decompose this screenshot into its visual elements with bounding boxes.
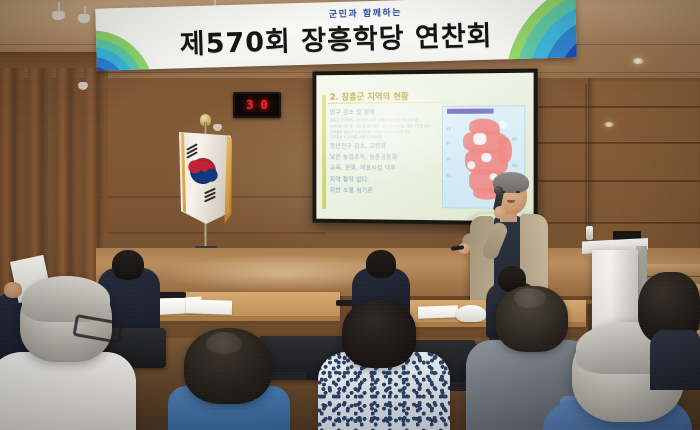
podium-microphone: [586, 226, 593, 240]
wall-trim: [96, 232, 326, 234]
slide-title-rule: [328, 102, 476, 104]
audience-body: [650, 330, 700, 390]
slide-bullet: 인구 감소 및 정체: [330, 107, 440, 119]
audience-bald-spot: [206, 332, 242, 354]
slide-bullet: 지역 활력 없다.: [330, 174, 440, 186]
audience-body: [0, 352, 136, 430]
audience-hand: [4, 282, 22, 298]
slide-accent-bar: [322, 95, 326, 209]
map-caption-bar: [447, 109, 494, 114]
curtain-rod: [0, 52, 108, 68]
slide-bullet: 청년인구 감소, 고령화: [330, 141, 440, 152]
white-cap: [456, 305, 486, 322]
wall-trim: [530, 222, 700, 224]
map-label: 충북: [446, 141, 451, 145]
map-label: 전북: [446, 157, 451, 161]
slide-bullet: 교육, 문화, 의료시설 낙후: [330, 163, 440, 175]
lecture-hall-photo: 군민과 함께하는 제570회 장흥학당 연찬회 3 0 2. 장흥군 지역의 현…: [0, 0, 700, 430]
timer-digit-ones: 0: [261, 98, 268, 112]
recessed-light: [632, 58, 644, 64]
audience-head: [342, 300, 416, 368]
track-light: [78, 14, 90, 23]
paper-sheet: [418, 305, 458, 318]
map-label: 경북: [512, 137, 517, 141]
presenter-eye: [516, 191, 520, 193]
countdown-timer-display: 3 0: [233, 92, 281, 118]
map-label: 강원: [446, 127, 451, 131]
recessed-light: [604, 122, 614, 127]
slide-bullet-list: 인구 감소 및 정체 장흥군 인구변화, 2000년 43만 명에서 2019년…: [330, 107, 440, 198]
map-label: 전남: [446, 173, 451, 177]
timer-digit-tens: 3: [246, 98, 253, 112]
track-light: [52, 11, 65, 20]
audience-bald-spot: [514, 288, 546, 308]
slide-bullet: 낮은 농업소득, 농촌공동화: [330, 152, 440, 164]
wall-trim: [530, 180, 700, 182]
wall-trim: [530, 106, 700, 108]
audience-head: [366, 250, 396, 278]
slide-bullet: 지방 소멸 위기론: [330, 186, 440, 198]
microphone-head: [494, 186, 503, 195]
paper-sheet: [186, 299, 232, 315]
presenter-hand-mic: [494, 206, 506, 219]
wall-trim: [530, 142, 700, 144]
audience-head: [112, 250, 144, 280]
audience-hair: [22, 276, 110, 322]
slide-title: 2. 장흥군 지역의 현황: [330, 90, 409, 103]
map-label: 경남: [512, 163, 517, 167]
